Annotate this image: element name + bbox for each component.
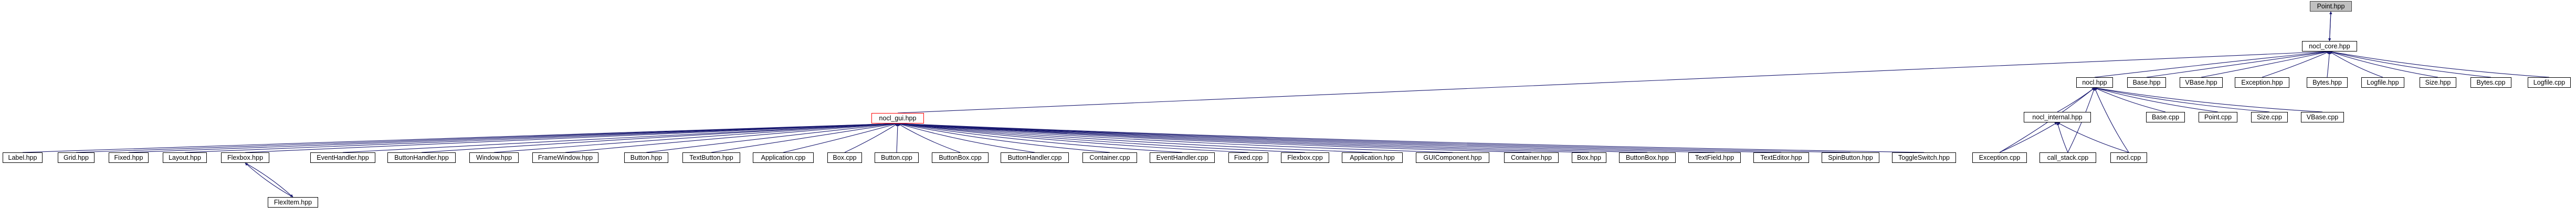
graph-node-size-hpp[interactable]: Size.hpp xyxy=(2420,77,2456,88)
graph-node-label: Window.hpp xyxy=(476,155,512,161)
graph-edge xyxy=(898,124,1035,152)
graph-edge xyxy=(129,124,898,152)
graph-edge xyxy=(898,124,1110,152)
graph-node-vbase-cpp[interactable]: VBase.cpp xyxy=(2301,112,2344,122)
graph-node-label: Box.hpp xyxy=(1577,155,1601,161)
graph-edge xyxy=(898,124,1248,152)
graph-node-box-hpp[interactable]: Box.hpp xyxy=(1572,152,1606,163)
graph-edge xyxy=(898,124,1589,152)
graph-node-label: Label.hpp xyxy=(8,155,37,161)
graph-node-label: TextField.hpp xyxy=(1695,155,1734,161)
graph-node-label: Bytes.hpp xyxy=(2312,79,2342,86)
graph-node-nocl-hpp[interactable]: nocl.hpp xyxy=(2076,77,2113,88)
graph-node-bytes-hpp[interactable]: Bytes.hpp xyxy=(2307,77,2348,88)
graph-edge xyxy=(2201,52,2330,77)
graph-edge xyxy=(185,124,898,152)
graph-edge xyxy=(2000,122,2057,152)
graph-edge xyxy=(898,124,1924,152)
graph-edge xyxy=(422,124,898,152)
graph-node-label: ToggleSwitch.hpp xyxy=(1898,155,1950,161)
graph-edge xyxy=(845,124,898,152)
graph-node-label: TextButton.hpp xyxy=(689,155,733,161)
graph-node-button-hpp[interactable]: Button.hpp xyxy=(624,152,668,163)
graph-edge xyxy=(2095,52,2330,77)
graph-edge xyxy=(783,124,898,152)
graph-node-base-cpp[interactable]: Base.cpp xyxy=(2146,112,2185,122)
graph-node-label-hpp[interactable]: Label.hpp xyxy=(3,152,43,163)
graph-edge xyxy=(2330,52,2550,77)
graph-node-button-cpp[interactable]: Button.cpp xyxy=(875,152,919,163)
graph-edge xyxy=(898,124,1781,152)
graph-node-point-hpp[interactable]: Point.hpp xyxy=(2310,1,2352,12)
graph-node-fixed-hpp[interactable]: Fixed.hpp xyxy=(109,152,149,163)
graph-node-framewindow-hpp[interactable]: FrameWindow.hpp xyxy=(532,152,598,163)
graph-node-label: Base.cpp xyxy=(2152,114,2179,121)
graph-edge xyxy=(898,124,1715,152)
graph-edge xyxy=(898,124,1647,152)
graph-edge xyxy=(2057,122,2068,152)
graph-node-grid-hpp[interactable]: Grid.hpp xyxy=(58,152,94,163)
graph-node-nocl-core-hpp[interactable]: nocl_core.hpp xyxy=(2302,41,2357,52)
graph-node-exception-hpp[interactable]: Exception.hpp xyxy=(2235,77,2289,88)
graph-node-label: nocl.hpp xyxy=(2082,79,2107,86)
graph-node-label: ButtonHandler.cpp xyxy=(1008,155,1062,161)
graph-node-label: VBase.hpp xyxy=(2185,79,2217,86)
graph-node-label: Bytes.cpp xyxy=(2477,79,2506,86)
graph-node-base-hpp[interactable]: Base.hpp xyxy=(2127,77,2166,88)
graph-node-container-cpp[interactable]: Container.cpp xyxy=(1082,152,1137,163)
graph-node-logfile-hpp[interactable]: Logfile.hpp xyxy=(2361,77,2404,88)
graph-edge xyxy=(898,124,1850,152)
graph-node-label: Layout.hpp xyxy=(169,155,201,161)
graph-node-label: Application.hpp xyxy=(1350,155,1394,161)
graph-node-label: Base.hpp xyxy=(2133,79,2161,86)
graph-node-label: VBase.cpp xyxy=(2307,114,2338,121)
graph-node-fixed-cpp[interactable]: Fixed.cpp xyxy=(1228,152,1268,163)
graph-node-vbase-hpp[interactable]: VBase.hpp xyxy=(2180,77,2223,88)
graph-node-flexbox-cpp[interactable]: Flexbox.cpp xyxy=(1281,152,1329,163)
graph-edge xyxy=(2330,12,2331,41)
graph-node-label: Logfile.cpp xyxy=(2533,79,2565,86)
graph-node-label: call_stack.cpp xyxy=(2047,155,2089,161)
graph-node-flexitem-hpp[interactable]: FlexItem.hpp xyxy=(268,197,318,208)
graph-edge xyxy=(2330,52,2383,77)
graph-node-window-hpp[interactable]: Window.hpp xyxy=(469,152,519,163)
graph-node-eventhandler-hpp[interactable]: EventHandler.hpp xyxy=(310,152,375,163)
graph-edge xyxy=(2095,88,2129,152)
graph-node-label: TextEditor.hpp xyxy=(1760,155,1802,161)
graph-edge xyxy=(565,124,898,152)
graph-node-application-hpp[interactable]: Application.hpp xyxy=(1342,152,1403,163)
graph-edge xyxy=(343,124,898,152)
graph-node-layout-hpp[interactable]: Layout.hpp xyxy=(163,152,207,163)
graph-node-point-cpp[interactable]: Point.cpp xyxy=(2199,112,2237,122)
graph-node-eventhandler-cpp[interactable]: EventHandler.cpp xyxy=(1150,152,1215,163)
graph-node-label: Exception.cpp xyxy=(1979,155,2021,161)
graph-edge xyxy=(2330,52,2491,77)
graph-node-container-hpp[interactable]: Container.hpp xyxy=(1504,152,1559,163)
graph-node-label: Button.hpp xyxy=(630,155,662,161)
graph-node-label: Container.hpp xyxy=(1511,155,1552,161)
graph-node-toggleswitch-hpp[interactable]: ToggleSwitch.hpp xyxy=(1892,152,1956,163)
graph-node-nocl-gui-hpp[interactable]: nocl_gui.hpp xyxy=(871,113,924,124)
graph-node-box-cpp[interactable]: Box.cpp xyxy=(827,152,862,163)
graph-edge xyxy=(2147,52,2330,77)
graph-node-buttonbox-hpp[interactable]: ButtonBox.hpp xyxy=(1619,152,1676,163)
graph-edge xyxy=(711,124,898,152)
graph-edge xyxy=(898,124,1531,152)
graph-edge xyxy=(2262,52,2330,77)
graph-edge xyxy=(245,163,293,197)
graph-node-label: nocl.cpp xyxy=(2117,155,2141,161)
graph-edge xyxy=(2095,88,2269,112)
graph-node-label: EventHandler.cpp xyxy=(1156,155,1208,161)
graph-node-label: Size.cpp xyxy=(2257,114,2282,121)
graph-node-spinbutton-hpp[interactable]: SpinButton.hpp xyxy=(1822,152,1879,163)
graph-edge xyxy=(245,124,898,152)
graph-node-label: ButtonBox.cpp xyxy=(939,155,981,161)
graph-node-label: Flexbox.cpp xyxy=(1287,155,1322,161)
graph-node-label: Box.cpp xyxy=(833,155,856,161)
graph-node-label: Application.cpp xyxy=(761,155,806,161)
include-dependency-graph: Point.hppnocl_core.hppnocl.hppBase.hppVB… xyxy=(0,0,2576,216)
graph-node-buttonhandler-cpp[interactable]: ButtonHandler.cpp xyxy=(1001,152,1069,163)
graph-node-label: Flexbox.hpp xyxy=(227,155,263,161)
graph-edge xyxy=(76,124,898,152)
graph-edge xyxy=(2327,52,2330,77)
graph-edge xyxy=(2095,88,2165,112)
graph-edge xyxy=(2330,12,2331,41)
graph-edge xyxy=(898,124,960,152)
graph-node-texteditor-hpp[interactable]: TextEditor.hpp xyxy=(1753,152,1809,163)
graph-edge xyxy=(898,124,1305,152)
graph-node-nocl-cpp[interactable]: nocl.cpp xyxy=(2110,152,2147,163)
graph-node-label: ButtonBox.hpp xyxy=(1626,155,1669,161)
graph-edge xyxy=(646,124,898,152)
graph-node-label: Grid.hpp xyxy=(64,155,89,161)
graph-node-label: nocl_internal.hpp xyxy=(2032,114,2082,121)
graph-node-bytes-cpp[interactable]: Bytes.cpp xyxy=(2470,77,2511,88)
graph-node-label: nocl_core.hpp xyxy=(2309,43,2350,50)
graph-node-label: Button.cpp xyxy=(881,155,912,161)
graph-node-label: Point.cpp xyxy=(2204,114,2232,121)
graph-edges xyxy=(0,0,2576,216)
graph-edge xyxy=(2330,52,2438,77)
graph-edge xyxy=(897,124,898,152)
graph-node-buttonhandler-hpp[interactable]: ButtonHandler.hpp xyxy=(387,152,456,163)
graph-node-label: Container.cpp xyxy=(1089,155,1130,161)
graph-edge xyxy=(2095,88,2322,112)
graph-edge xyxy=(898,124,1372,152)
graph-node-label: FlexItem.hpp xyxy=(274,199,312,206)
graph-node-label: Logfile.hpp xyxy=(2367,79,2399,86)
graph-edge xyxy=(2095,88,2218,112)
graph-node-label: Point.hpp xyxy=(2317,3,2345,10)
graph-edge xyxy=(494,124,898,152)
graph-node-label: ButtonHandler.hpp xyxy=(394,155,449,161)
graph-edge xyxy=(2057,122,2129,152)
graph-node-logfile-cpp[interactable]: Logfile.cpp xyxy=(2528,77,2571,88)
graph-node-label: Fixed.cpp xyxy=(1234,155,1263,161)
graph-edge xyxy=(898,124,1182,152)
graph-edge xyxy=(898,124,1453,152)
graph-node-label: Size.hpp xyxy=(2425,79,2451,86)
graph-node-application-cpp[interactable]: Application.cpp xyxy=(753,152,814,163)
graph-node-call-stack-cpp[interactable]: call_stack.cpp xyxy=(2039,152,2096,163)
graph-node-label: FrameWindow.hpp xyxy=(538,155,593,161)
graph-node-nocl-internal-hpp[interactable]: nocl_internal.hpp xyxy=(2024,112,2091,122)
graph-node-label: Fixed.hpp xyxy=(114,155,143,161)
graph-edge xyxy=(2057,88,2095,112)
graph-edge xyxy=(898,52,2330,113)
graph-node-label: Exception.hpp xyxy=(2241,79,2283,86)
graph-node-label: GUIComponent.hpp xyxy=(1423,155,1481,161)
graph-node-buttonbox-cpp[interactable]: ButtonBox.cpp xyxy=(932,152,989,163)
graph-node-flexbox-hpp[interactable]: Flexbox.hpp xyxy=(221,152,269,163)
graph-node-textbutton-hpp[interactable]: TextButton.hpp xyxy=(682,152,740,163)
graph-node-textfield-hpp[interactable]: TextField.hpp xyxy=(1688,152,1741,163)
graph-node-label: SpinButton.hpp xyxy=(1828,155,1873,161)
graph-edge xyxy=(23,124,898,152)
graph-node-label: nocl_gui.hpp xyxy=(879,115,917,122)
graph-edge xyxy=(245,163,293,197)
graph-node-size-cpp[interactable]: Size.cpp xyxy=(2251,112,2288,122)
graph-node-label: EventHandler.hpp xyxy=(317,155,369,161)
graph-node-guicomponent-hpp[interactable]: GUIComponent.hpp xyxy=(1416,152,1489,163)
graph-node-exception-cpp[interactable]: Exception.cpp xyxy=(1972,152,2027,163)
